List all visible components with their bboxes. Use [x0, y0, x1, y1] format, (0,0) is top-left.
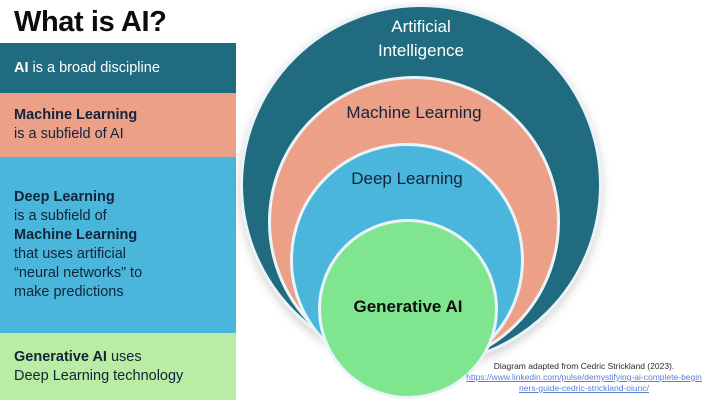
legend-line: Machine Learning [14, 226, 236, 245]
legend-line: AI is a broad discipline [14, 59, 236, 78]
legend-line-rest: Deep Learning technology [14, 368, 183, 384]
legend-line-rest: make predictions [14, 284, 124, 300]
legend-line-rest: is a subfield of AI [14, 126, 124, 142]
legend-line: Machine Learning [14, 106, 236, 125]
slide-canvas: What is AI? AI is a broad discipline Mac… [0, 0, 710, 400]
attribution-link[interactable]: https://www.linkedin.com/pulse/demystify… [466, 372, 702, 394]
legend-line-rest: uses [107, 349, 142, 365]
page-title: What is AI? [14, 2, 166, 42]
legend-line: Deep Learning [14, 188, 236, 207]
legend-band-ai: AI is a broad discipline [0, 43, 236, 93]
legend-line: is a subfield of [14, 207, 236, 226]
legend-line: Deep Learning technology [14, 367, 236, 386]
ring-label-generative-ai: Generative AI [354, 295, 463, 396]
legend-line-rest: that uses artificial [14, 246, 126, 262]
concentric-circle-diagram: Artificial Intelligence Machine Learning… [228, 0, 710, 400]
legend-line-bold: Machine Learning [14, 107, 137, 123]
legend-line: is a subfield of AI [14, 125, 236, 144]
legend-line-rest: “neural networks” to [14, 265, 142, 281]
attribution: Diagram adapted from Cedric Strickland (… [466, 361, 702, 394]
legend-line: Generative AI uses [14, 348, 236, 367]
legend-line: that uses artificial [14, 245, 236, 264]
legend-line-rest: is a broad discipline [29, 60, 160, 76]
legend-band-machine-learning: Machine Learning is a subfield of AI [0, 93, 236, 157]
attribution-credit: Diagram adapted from Cedric Strickland (… [466, 361, 702, 372]
legend-band-generative-ai: Generative AI uses Deep Learning technol… [0, 333, 236, 400]
legend-band-deep-learning: Deep Learning is a subfield of Machine L… [0, 157, 236, 333]
legend-line: make predictions [14, 283, 236, 302]
legend-line: “neural networks” to [14, 264, 236, 283]
legend-line-bold: Deep Learning [14, 189, 115, 205]
legend-line-bold: Machine Learning [14, 227, 137, 243]
legend-line-rest: is a subfield of [14, 208, 107, 224]
legend-line-bold: Generative AI [14, 349, 107, 365]
legend-line-bold: AI [14, 60, 29, 76]
